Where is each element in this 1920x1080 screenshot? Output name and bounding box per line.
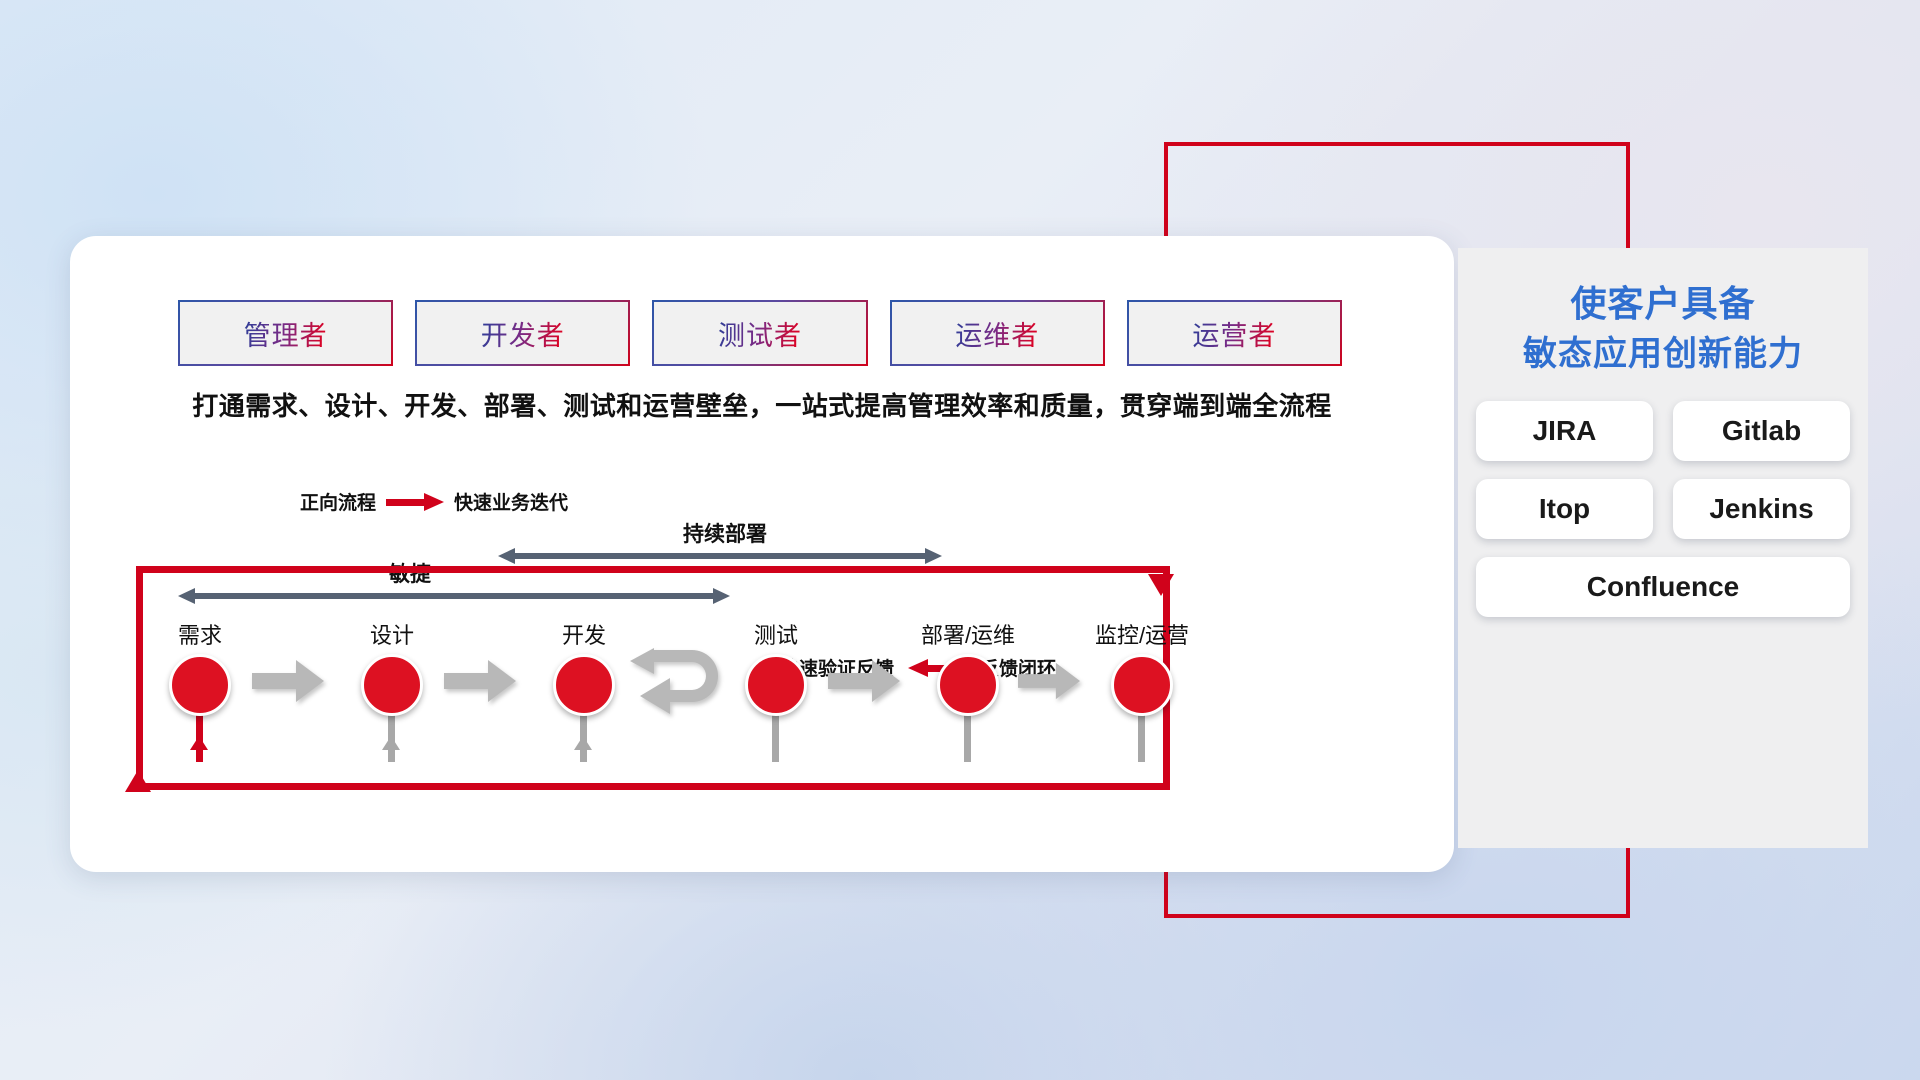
role-label: 运营者 — [1192, 314, 1276, 353]
tool-list: JIRA Gitlab Itop Jenkins Confluence — [1476, 401, 1850, 617]
role-box-developer[interactable]: 开发者 — [417, 302, 628, 364]
role-label: 开发者 — [481, 314, 565, 353]
role-box-manager[interactable]: 管理者 — [180, 302, 391, 364]
stage-label: 开发 — [524, 618, 644, 650]
stage-label: 需求 — [140, 618, 260, 650]
role-box-tester[interactable]: 测试者 — [654, 302, 865, 364]
role-label: 运维者 — [955, 314, 1039, 353]
tool-item-jira[interactable]: JIRA — [1476, 401, 1653, 461]
stage-label: 监控/运营 — [1082, 618, 1202, 650]
span-label-continuous-deployment: 持续部署 — [500, 518, 950, 548]
role-box-ops[interactable]: 运维者 — [892, 302, 1103, 364]
stage-dot-deploy-ops[interactable] — [937, 654, 999, 716]
role-box-inner: 运维者 — [892, 302, 1103, 364]
stage-monitor-operations[interactable]: 监控/运营 — [1082, 618, 1202, 716]
stage-test[interactable]: 测试 — [716, 618, 836, 716]
value-panel: 使客户具备 敏态应用创新能力 JIRA Gitlab Itop Jenkins … — [1458, 248, 1868, 848]
role-box-inner: 运营者 — [1129, 302, 1340, 364]
stage-label: 设计 — [332, 618, 452, 650]
stage-requirement[interactable]: 需求 — [140, 618, 260, 716]
panel-title: 使客户具备 敏态应用创新能力 — [1458, 278, 1868, 379]
tool-item-jenkins[interactable]: Jenkins — [1673, 479, 1850, 539]
role-box-inner: 开发者 — [417, 302, 628, 364]
stage-dot-test[interactable] — [745, 654, 807, 716]
red-right-arrow-icon — [386, 493, 444, 511]
role-box-inner: 测试者 — [654, 302, 865, 364]
pipeline-stages: 需求 设计 开发 测试 部署/运维 监控/运营 — [130, 618, 1190, 748]
legend-forward-flow: 正向流程 快速业务迭代 — [300, 488, 568, 515]
stage-design[interactable]: 设计 — [332, 618, 452, 716]
arrow-head-right — [925, 548, 942, 564]
stage-dot-develop[interactable] — [553, 654, 615, 716]
panel-title-line2: 敏态应用创新能力 — [1458, 330, 1868, 379]
stage-label: 测试 — [716, 618, 836, 650]
tool-item-itop[interactable]: Itop — [1476, 479, 1653, 539]
stage-label: 部署/运维 — [908, 618, 1028, 650]
stage-dot-monitor-operations[interactable] — [1111, 654, 1173, 716]
panel-title-line1: 使客户具备 — [1570, 283, 1755, 324]
legend-forward-left-label: 正向流程 — [300, 488, 376, 515]
loop-back-arrow-icon — [630, 648, 726, 714]
stage-develop[interactable]: 开发 — [524, 618, 644, 716]
tool-item-confluence[interactable]: Confluence — [1476, 557, 1850, 617]
stage-deploy-ops[interactable]: 部署/运维 — [908, 618, 1028, 716]
chevron-arrow-icon — [828, 660, 900, 702]
stage-dot-design[interactable] — [361, 654, 423, 716]
main-card: 管理者 开发者 测试者 运维者 运营者 打通需求、设计、开发、部署、测试和运营壁… — [70, 236, 1454, 872]
tool-item-gitlab[interactable]: Gitlab — [1673, 401, 1850, 461]
headline-text: 打通需求、设计、开发、部署、测试和运营壁垒，一站式提高管理效率和质量，贯穿端到端… — [70, 386, 1454, 423]
chevron-arrow-icon — [444, 660, 516, 702]
role-label: 管理者 — [244, 314, 328, 353]
legend-forward-right-label: 快速业务迭代 — [454, 488, 568, 515]
loop-arrow-up-icon — [125, 770, 151, 792]
role-box-operations[interactable]: 运营者 — [1129, 302, 1340, 364]
role-label: 测试者 — [718, 314, 802, 353]
chevron-arrow-icon — [252, 660, 324, 702]
chevron-arrow-icon — [1018, 660, 1080, 702]
stage-dot-requirement[interactable] — [169, 654, 231, 716]
role-box-row: 管理者 开发者 测试者 运维者 运营者 — [180, 302, 1340, 364]
loop-arrow-down-icon — [1148, 574, 1174, 596]
role-box-inner: 管理者 — [180, 302, 391, 364]
